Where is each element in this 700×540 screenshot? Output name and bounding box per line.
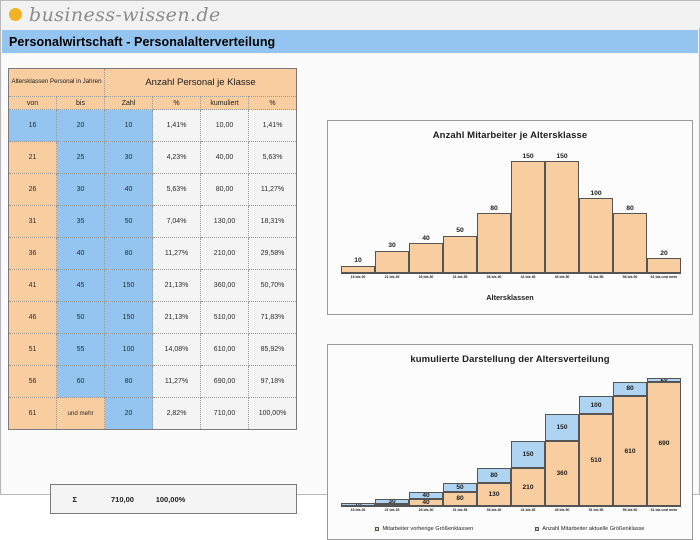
chart2-segment-previous[interactable]: 610 [613,396,647,506]
chart2-segment-previous[interactable]: 210 [511,468,545,506]
chart1-bar-column: 80 [613,151,647,273]
chart1-bar-column: 20 [647,151,681,273]
chart2-segment-current[interactable]: 150 [511,441,545,468]
chart2-segment-current[interactable]: 50 [443,483,477,492]
chart1-bar[interactable] [613,213,647,273]
chart1-bar-value-label: 80 [477,205,511,212]
cell-zahl[interactable]: 20 [105,398,153,430]
chart1-bar[interactable] [545,161,579,273]
chart1-bars: 10304050801501501008020 [341,151,681,273]
sum-total: 710,00 [99,485,147,514]
brand-header: business-wissen.de [1,1,700,28]
cell-von[interactable]: 21 [9,142,57,174]
chart1-bar-column: 50 [443,151,477,273]
cell-bis[interactable]: 50 [57,302,105,334]
chart1-bar-value-label: 30 [375,242,409,249]
chart2-segment-current[interactable]: 80 [477,468,511,482]
chart2-bar-column: 10 [341,371,375,506]
chart2-bar-column: 69020 [647,371,681,506]
cell-bis[interactable]: 55 [57,334,105,366]
header-personnel-count: Anzahl Personal je Klasse [105,69,297,97]
chart2-bar-column: 210150 [511,371,545,506]
cell-bis[interactable]: und mehr [57,398,105,430]
cell-zahl[interactable]: 80 [105,366,153,398]
chart2-bar-column: 510100 [579,371,613,506]
table-header-top: Altersklassen Personal in Jahren Anzahl … [9,69,297,97]
cell-pct[interactable]: 21,13% [153,270,201,302]
header-age-classes: Altersklassen Personal in Jahren [9,69,105,97]
page-title-band: Personalwirtschaft - Personalaltervertei… [2,30,698,53]
chart-panel-cumulative: kumulierte Darstellung der Altersverteil… [327,344,693,540]
cell-bis[interactable]: 20 [57,110,105,142]
chart1-x-tick: 36 bis 40 [477,275,511,280]
table-row[interactable]: 56608011,27%690,0097,18% [9,366,297,398]
chart1-x-tick-labels: 16 bis 2021 bis 2526 bis 3031 bis 3536 b… [341,275,681,280]
cell-bis[interactable]: 35 [57,206,105,238]
chart1-bar-value-label: 100 [579,190,613,197]
cell-zahl[interactable]: 50 [105,206,153,238]
chart2-bars: 1010304040805013080210150360150510100610… [341,371,681,506]
col-header-kum-pct: % [249,97,297,110]
chart1-x-tick: 26 bis 30 [409,275,443,280]
chart2-bar-column: 1030 [375,371,409,506]
cell-zahl[interactable]: 150 [105,302,153,334]
cell-pct[interactable]: 2,82% [153,398,201,430]
cell-von[interactable]: 36 [9,238,57,270]
table-row[interactable]: 1620101,41%10,001,41% [9,110,297,142]
chart2-segment-current[interactable]: 80 [613,382,647,396]
sum-empty [195,485,297,514]
chart1-bar[interactable] [409,243,443,273]
chart2-segment-previous[interactable]: 40 [409,499,443,506]
cell-kum-pct[interactable]: 18,31% [249,206,297,238]
chart2-bar-column: 360150 [545,371,579,506]
chart1-bar[interactable] [375,251,409,273]
legend-swatch-icon [535,527,539,531]
cell-zahl[interactable]: 10 [105,110,153,142]
table-row[interactable]: 414515021,13%360,0050,70% [9,270,297,302]
chart1-x-tick: 56 bis 60 [613,275,647,280]
cell-bis[interactable]: 45 [57,270,105,302]
col-header-kumuliert: kumuliert [201,97,249,110]
cell-bis[interactable]: 40 [57,238,105,270]
cell-kum-pct[interactable]: 1,41% [249,110,297,142]
chart2-x-axis [341,506,681,507]
chart2-x-tick: 51 bis 55 [579,508,613,513]
cell-kumuliert[interactable]: 210,00 [201,238,249,270]
col-header-pct: % [153,97,201,110]
chart1-bar-column: 10 [341,151,375,273]
chart1-x-tick: 51 bis 55 [579,275,613,280]
table-row[interactable]: 515510014,08%610,0085,92% [9,334,297,366]
chart2-bar-column: 13080 [477,371,511,506]
chart2-bar-column: 8050 [443,371,477,506]
chart2-x-tick-labels: 16 bis 2021 bis 2526 bis 3031 bis 3536 b… [341,508,681,513]
cell-kum-pct[interactable]: 11,27% [249,174,297,206]
cell-kumuliert[interactable]: 40,00 [201,142,249,174]
sum-symbol: Σ [51,485,99,514]
col-header-von: von [9,97,57,110]
table-header-sub: von bis Zahl % kumuliert % [9,97,297,110]
cell-kum-pct[interactable]: 71,83% [249,302,297,334]
cell-pct[interactable]: 4,23% [153,142,201,174]
cell-kumuliert[interactable]: 710,00 [201,398,249,430]
col-header-zahl: Zahl [105,97,153,110]
chart2-x-tick: 46 bis 50 [545,508,579,513]
cell-von[interactable]: 16 [9,110,57,142]
chart1-bar-value-label: 10 [341,257,375,264]
table-row[interactable]: 465015021,13%510,0071,83% [9,302,297,334]
cell-bis[interactable]: 60 [57,366,105,398]
chart2-x-tick: 56 bis 60 [613,508,647,513]
chart2-title: kumulierte Darstellung der Altersverteil… [328,354,692,365]
cell-pct[interactable]: 14,08% [153,334,201,366]
cell-kumuliert[interactable]: 360,00 [201,270,249,302]
chart1-bar-column: 80 [477,151,511,273]
cell-von[interactable]: 46 [9,302,57,334]
cell-zahl[interactable]: 150 [105,270,153,302]
chart2-segment-previous[interactable]: 360 [545,441,579,506]
chart1-title: Anzahl Mitarbeiter je Altersklasse [328,130,692,141]
chart1-bar-value-label: 50 [443,227,477,234]
cell-pct[interactable]: 11,27% [153,238,201,270]
brand-dot-icon [9,8,22,21]
cell-kumuliert[interactable]: 130,00 [201,206,249,238]
cell-pct[interactable]: 11,27% [153,366,201,398]
cell-von[interactable]: 61 [9,398,57,430]
chart2-legend-label: Mitarbeiter vorherige Größenklassen [382,526,473,532]
chart1-bar[interactable] [477,213,511,273]
cell-kum-pct[interactable]: 29,58% [249,238,297,270]
cell-bis[interactable]: 25 [57,142,105,174]
cell-von[interactable]: 56 [9,366,57,398]
cell-pct[interactable]: 1,41% [153,110,201,142]
chart2-segment-current[interactable]: 20 [647,378,681,382]
cell-von[interactable]: 26 [9,174,57,206]
cell-zahl[interactable]: 80 [105,238,153,270]
spreadsheet-page: business-wissen.de Personalwirtschaft - … [0,0,700,495]
chart2-legend-item[interactable]: Anzahl Mitarbeiter aktuelle Größenklasse [535,526,644,532]
cell-von[interactable]: 41 [9,270,57,302]
brand-name: business-wissen.de [29,4,221,26]
chart1-x-axis [341,273,681,274]
cell-kum-pct[interactable]: 85,92% [249,334,297,366]
chart2-segment-current[interactable]: 150 [545,414,579,441]
cell-zahl[interactable]: 100 [105,334,153,366]
chart1-bar-value-label: 150 [545,153,579,160]
chart1-x-tick: 41 bis 45 [511,275,545,280]
chart1-bar-column: 150 [545,151,579,273]
chart1-bar[interactable] [647,258,681,273]
chart1-x-tick: 21 bis 25 [375,275,409,280]
chart1-bar-column: 30 [375,151,409,273]
chart2-segment-current[interactable]: 40 [409,492,443,499]
chart2-plot: 1010304040805013080210150360150510100610… [341,371,681,506]
chart1-bar-column: 100 [579,151,613,273]
chart2-bar-column: 61080 [613,371,647,506]
chart1-bar[interactable] [341,266,375,273]
chart2-segment-current[interactable]: 30 [375,499,409,504]
table-row[interactable]: 2125304,23%40,005,63% [9,142,297,174]
chart2-segment-previous[interactable]: 690 [647,382,681,506]
table-body: 1620101,41%10,001,41%2125304,23%40,005,6… [9,110,297,430]
chart-panel-absolute: Anzahl Mitarbeiter je Altersklasse 10304… [327,120,693,315]
chart1-bar-value-label: 80 [613,205,647,212]
cell-zahl[interactable]: 40 [105,174,153,206]
cell-kumuliert[interactable]: 610,00 [201,334,249,366]
chart1-x-tick: 31 bis 35 [443,275,477,280]
cell-kum-pct[interactable]: 97,18% [249,366,297,398]
chart2-segment-previous[interactable]: 510 [579,414,613,506]
table-sum-row: Σ 710,00 100,00% [50,484,296,514]
table-row[interactable]: 36408011,27%210,0029,58% [9,238,297,270]
page-title: Personalwirtschaft - Personalaltervertei… [2,35,275,49]
chart1-bar[interactable] [443,236,477,273]
cell-kum-pct[interactable]: 50,70% [249,270,297,302]
chart2-x-tick: 21 bis 25 [375,508,409,513]
legend-swatch-icon [375,527,379,531]
chart2-segment-current[interactable]: 100 [579,396,613,414]
chart1-bar-column: 150 [511,151,545,273]
chart2-legend: Mitarbeiter vorherige GrößenklassenAnzah… [328,526,692,532]
cell-kum-pct[interactable]: 100,00% [249,398,297,430]
chart2-x-tick: 31 bis 35 [443,508,477,513]
chart1-bar[interactable] [579,198,613,273]
chart2-x-tick: 61 bis und mehr [647,508,681,513]
table-row[interactable]: 2630405,63%80,0011,27% [9,174,297,206]
chart1-x-axis-title: Altersklassen [328,293,692,302]
chart1-bar-value-label: 150 [511,153,545,160]
chart2-x-tick: 16 bis 20 [341,508,375,513]
chart1-bar-value-label: 20 [647,250,681,257]
cell-kumuliert[interactable]: 80,00 [201,174,249,206]
cell-kumuliert[interactable]: 510,00 [201,302,249,334]
chart1-x-tick: 61 bis und mehr [647,275,681,280]
cell-von[interactable]: 31 [9,206,57,238]
chart2-x-tick: 36 bis 40 [477,508,511,513]
chart2-x-tick: 26 bis 30 [409,508,443,513]
chart2-legend-item[interactable]: Mitarbeiter vorherige Größenklassen [375,526,473,532]
age-distribution-table: Altersklassen Personal in Jahren Anzahl … [8,68,296,430]
chart2-segment-previous[interactable]: 130 [477,483,511,506]
worksheet-canvas: Altersklassen Personal in Jahren Anzahl … [2,54,698,494]
table-row[interactable]: 3135507,04%130,0018,31% [9,206,297,238]
cell-zahl[interactable]: 30 [105,142,153,174]
chart1-bar[interactable] [511,161,545,273]
chart2-x-tick: 41 bis 45 [511,508,545,513]
chart1-bar-column: 40 [409,151,443,273]
cell-bis[interactable]: 30 [57,174,105,206]
chart1-plot: 10304050801501501008020 [341,151,681,273]
cell-kumuliert[interactable]: 10,00 [201,110,249,142]
chart1-x-tick: 46 bis 50 [545,275,579,280]
cell-kumuliert[interactable]: 690,00 [201,366,249,398]
chart2-legend-label: Anzahl Mitarbeiter aktuelle Größenklasse [542,526,644,532]
chart2-segment-previous[interactable]: 80 [443,492,477,506]
cell-von[interactable]: 51 [9,334,57,366]
chart1-x-tick: 16 bis 20 [341,275,375,280]
table-row[interactable]: 61und mehr202,82%710,00100,00% [9,398,297,430]
sum-total-pct: 100,00% [147,485,195,514]
chart2-bar-column: 4040 [409,371,443,506]
col-header-bis: bis [57,97,105,110]
cell-pct[interactable]: 21,13% [153,302,201,334]
chart1-bar-value-label: 40 [409,235,443,242]
cell-pct[interactable]: 5,63% [153,174,201,206]
cell-kum-pct[interactable]: 5,63% [249,142,297,174]
cell-pct[interactable]: 7,04% [153,206,201,238]
